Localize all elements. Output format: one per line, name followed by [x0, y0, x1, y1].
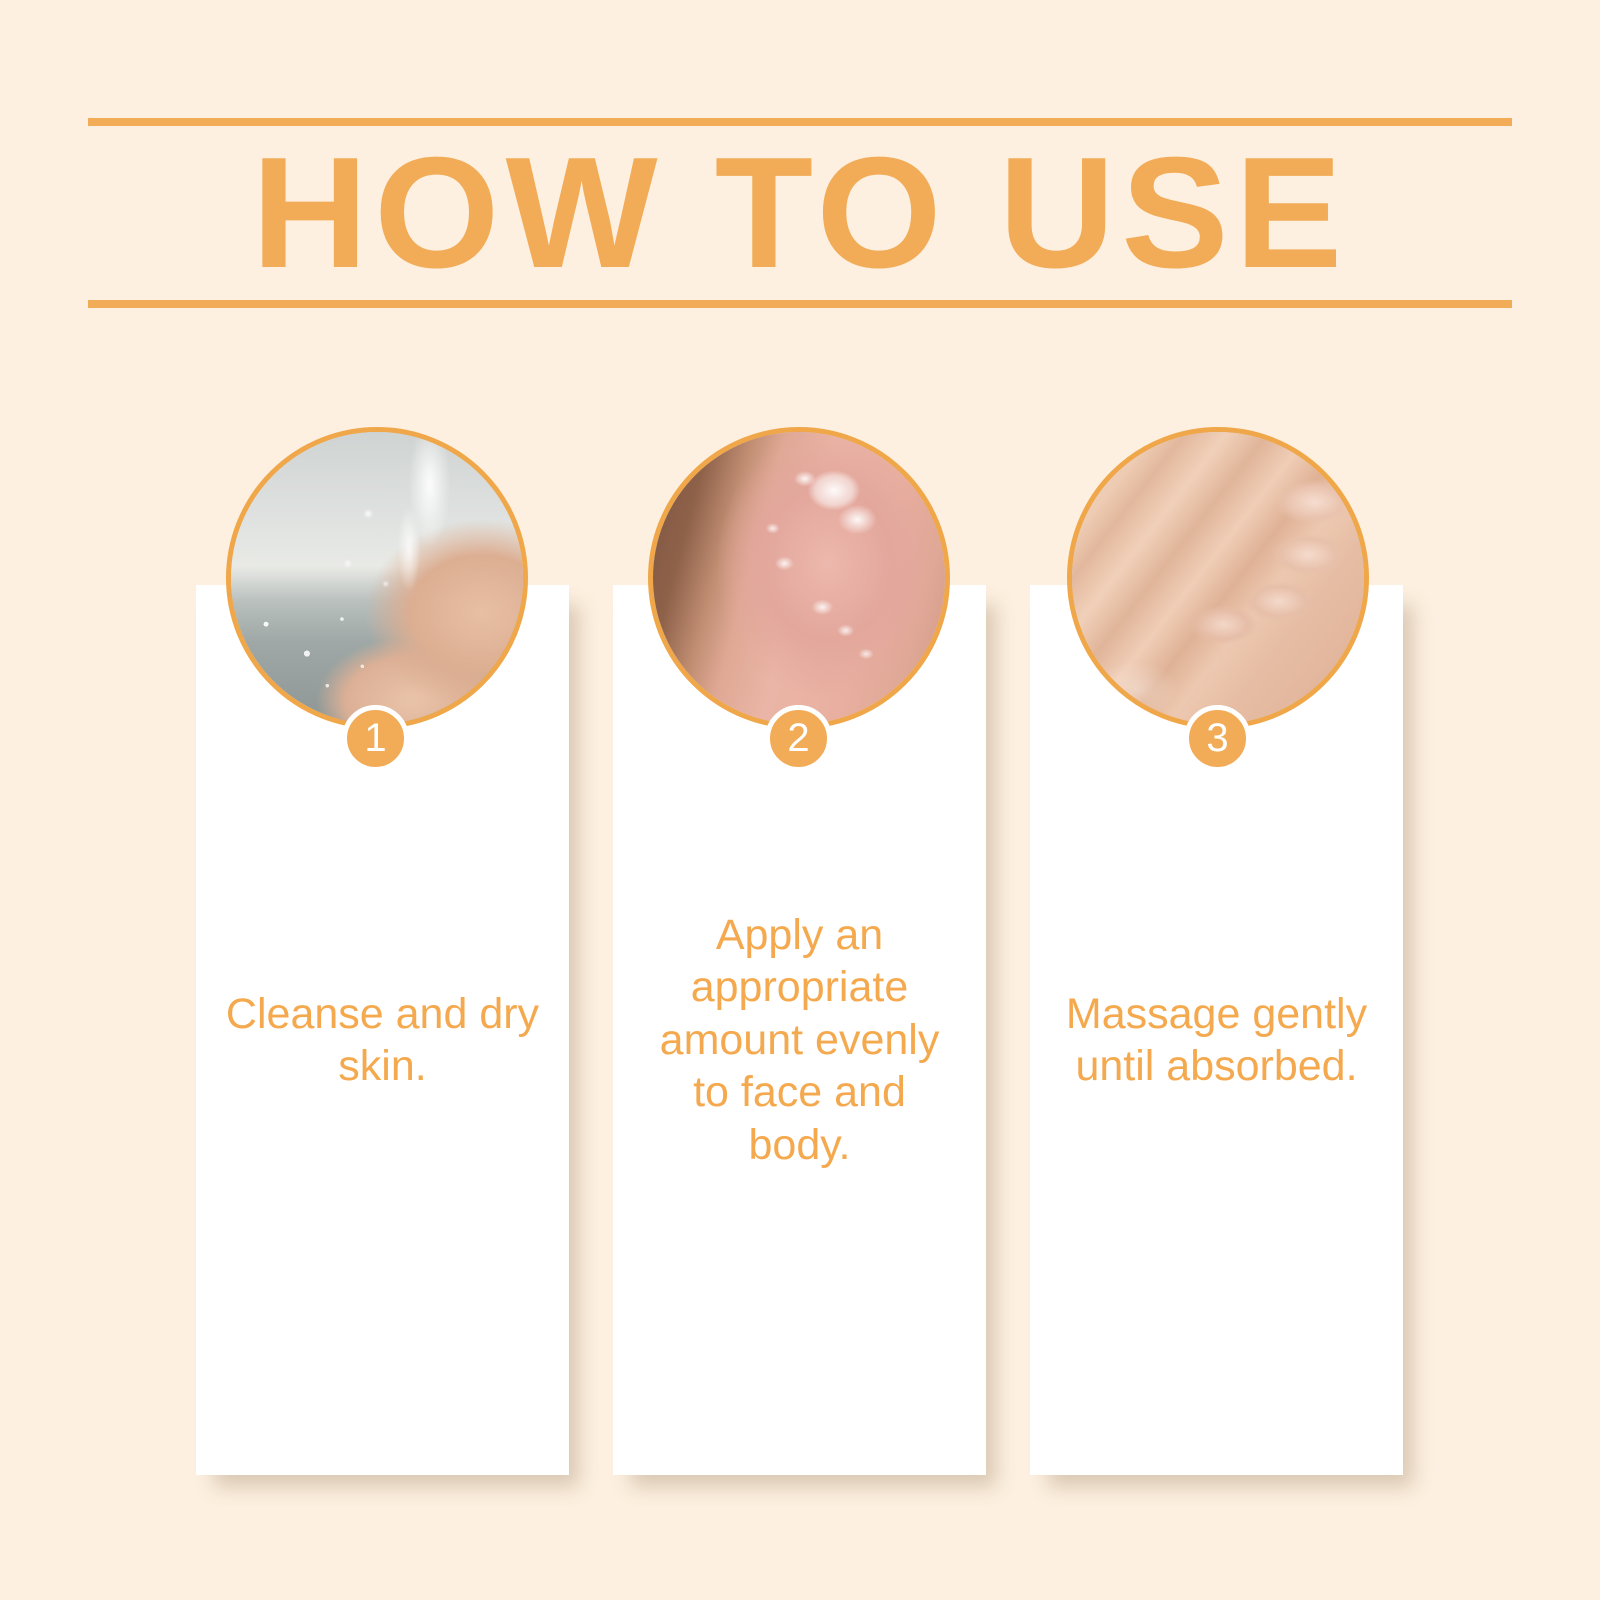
- step-card-1: Cleanse and dry skin. 1: [196, 427, 600, 1487]
- step-badge-3: 3: [1184, 705, 1251, 772]
- foot-under-shower-water-photo: [226, 427, 528, 729]
- step-card-3: Massage gently until absorbed. 3: [1030, 427, 1434, 1487]
- dry-flaking-skin-photo: [648, 427, 950, 729]
- step-text-1: Cleanse and dry skin.: [223, 988, 543, 1093]
- step-card-2: Apply an appropriate amount evenly to fa…: [613, 427, 1017, 1487]
- steps-container: Cleanse and dry skin. 1 Apply an appropr…: [0, 0, 1600, 1600]
- step-text-3: Massage gently until absorbed.: [1057, 988, 1377, 1093]
- step-badge-1: 1: [342, 705, 409, 772]
- step-text-2: Apply an appropriate amount evenly to fa…: [640, 909, 960, 1171]
- hand-massaging-skin-photo: [1067, 427, 1369, 729]
- step-badge-2: 2: [765, 705, 832, 772]
- step-image-1: [231, 432, 523, 724]
- step-image-2: [653, 432, 945, 724]
- step-image-3: [1072, 432, 1364, 724]
